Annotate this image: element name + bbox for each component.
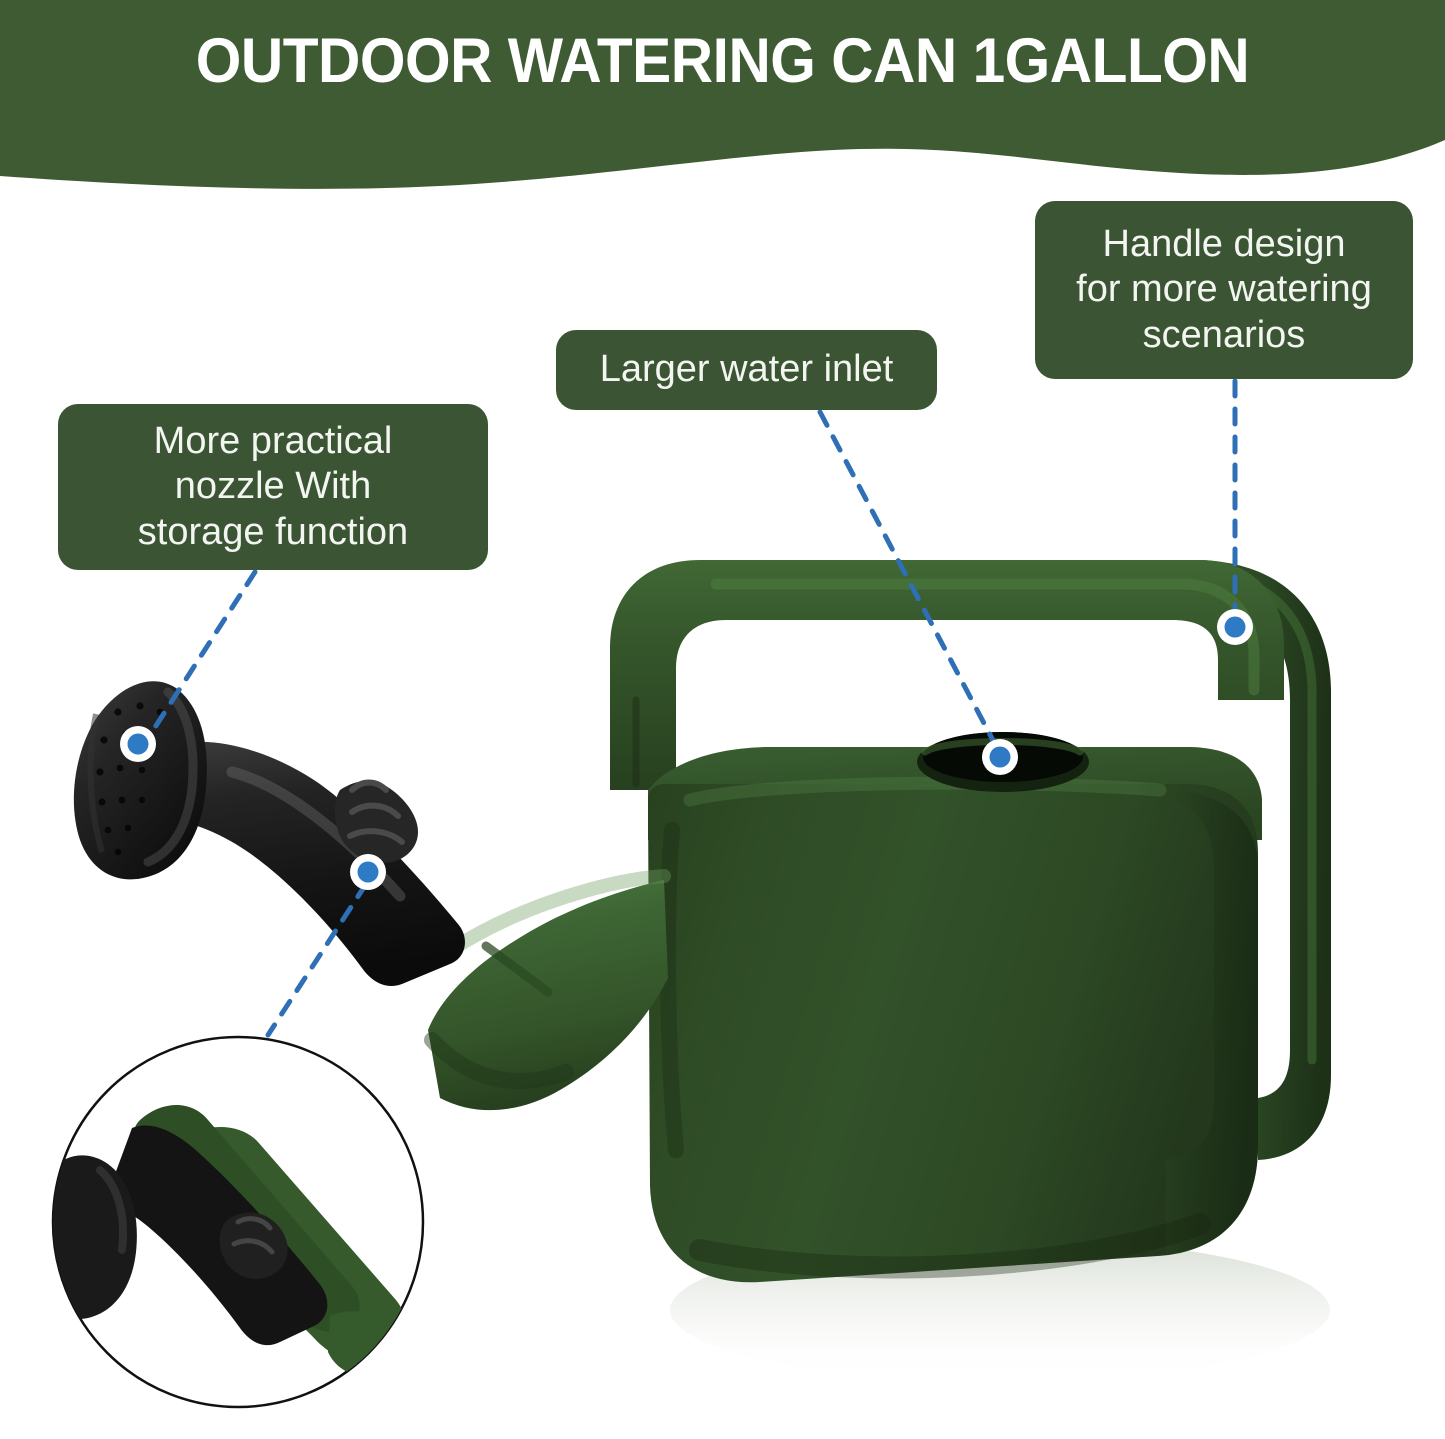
can-body bbox=[648, 747, 1262, 1282]
callout-label-nozzle-text: More practicalnozzle Withstorage functio… bbox=[138, 419, 408, 556]
callout-label-inlet-text: Larger water inlet bbox=[600, 347, 894, 393]
water-fill-opening bbox=[917, 732, 1089, 792]
sprinkler-rose-head bbox=[74, 681, 207, 879]
nozzle-storage-inset bbox=[23, 1037, 423, 1407]
green-spout bbox=[428, 876, 668, 1110]
callout-label-inlet[interactable]: Larger water inlet bbox=[556, 330, 937, 410]
infographic-page: OUTDOOR WATERING CAN 1GALLON bbox=[0, 0, 1445, 1439]
callout-label-handle-text: Handle designfor more wateringscenarios bbox=[1076, 222, 1372, 359]
callout-label-nozzle[interactable]: More practicalnozzle Withstorage functio… bbox=[58, 404, 488, 570]
black-neck bbox=[164, 742, 465, 986]
callout-label-handle[interactable]: Handle designfor more wateringscenarios bbox=[1035, 201, 1413, 379]
